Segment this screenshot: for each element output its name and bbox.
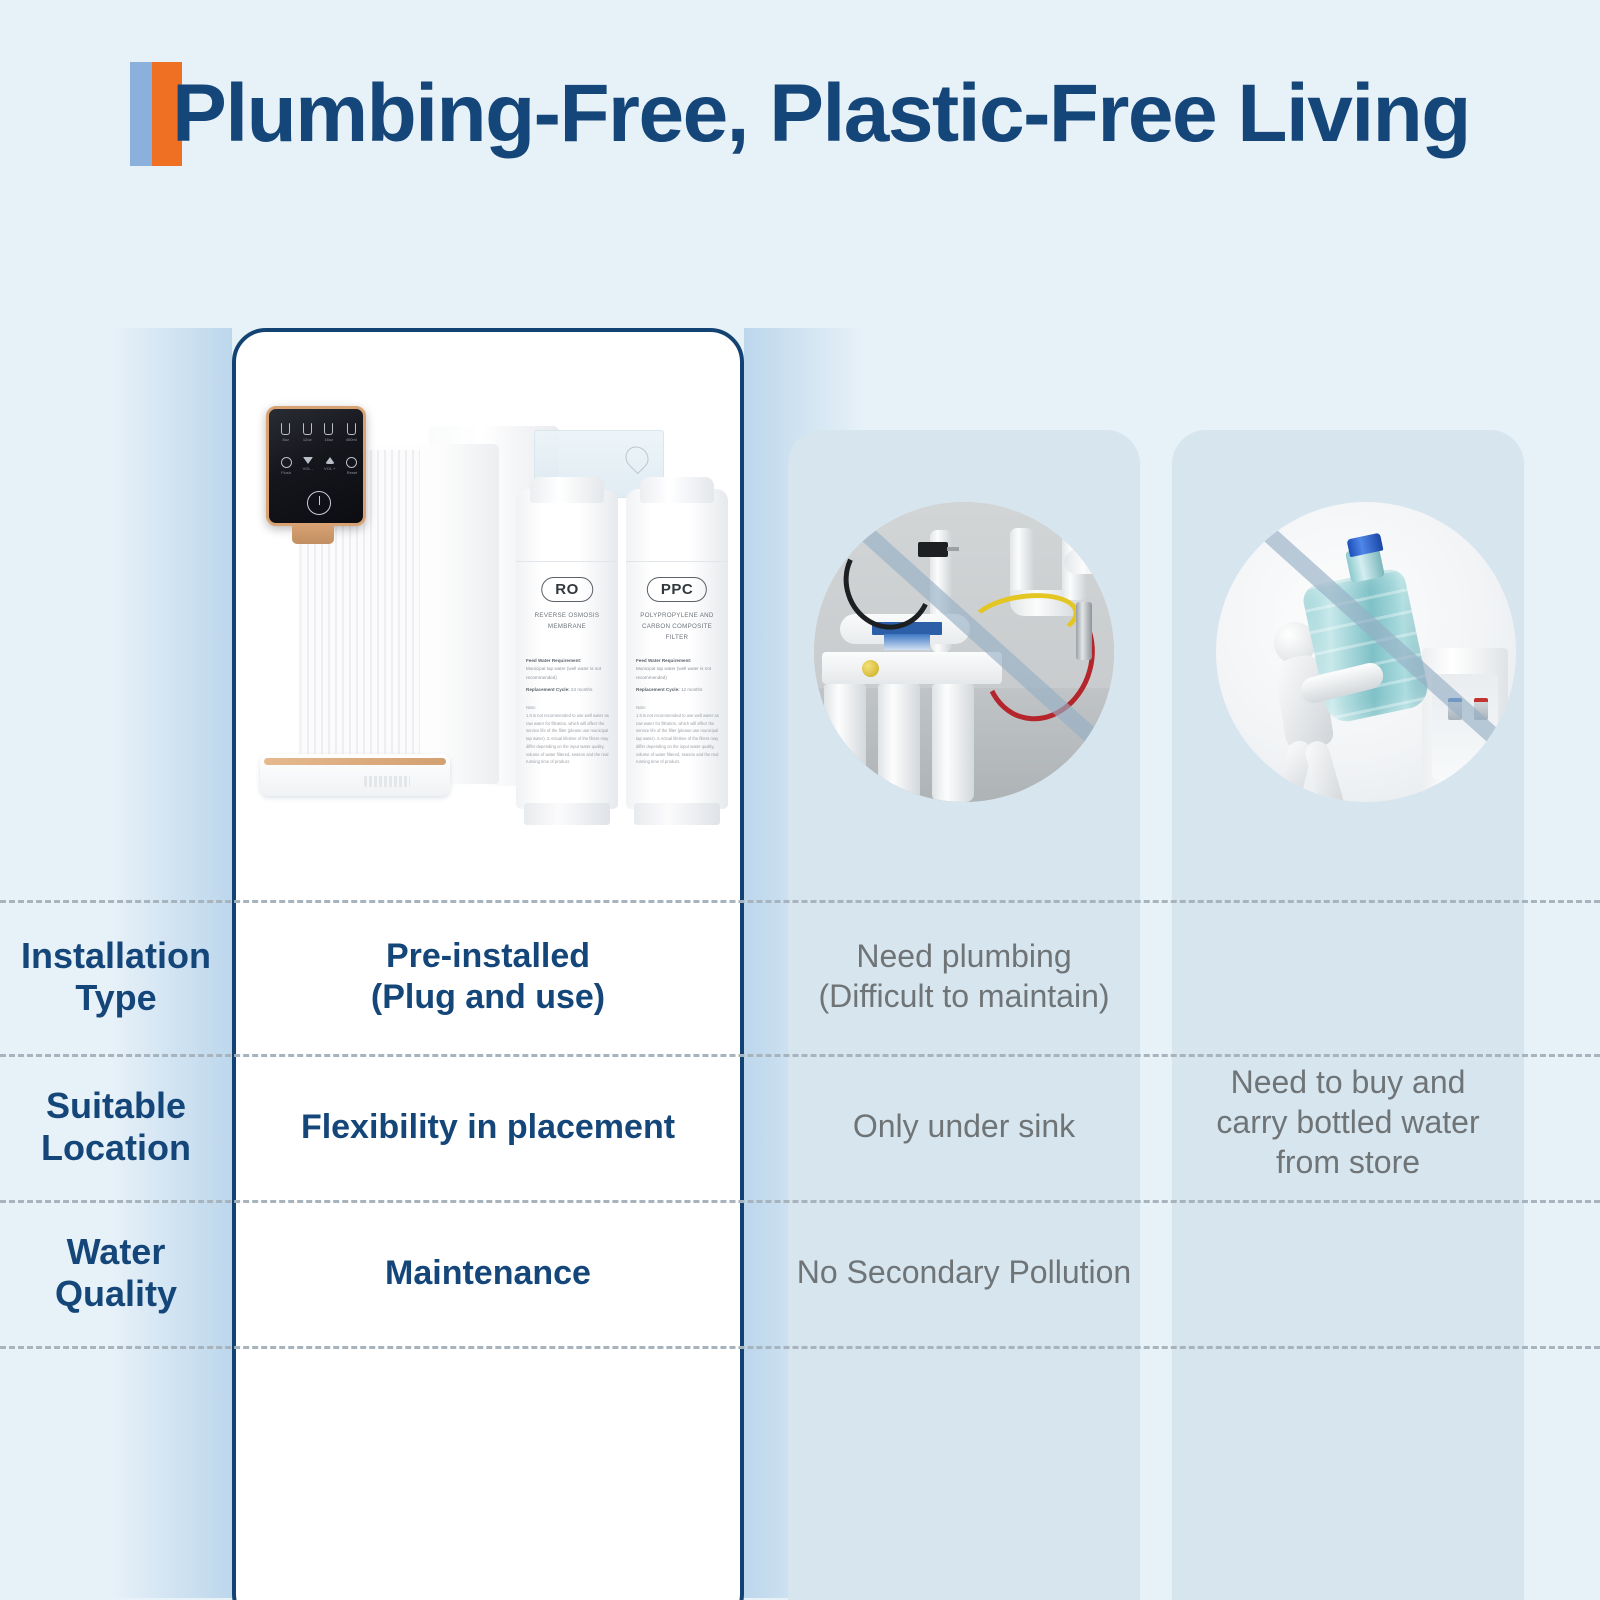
filter-base xyxy=(524,803,610,825)
filter-spec-ppc: Feed Water Requirement: Municipal tap wa… xyxy=(636,657,720,694)
filter-cartridge-ppc: PPC POLYPROPYLENE AND CARBON COMPOSITE F… xyxy=(626,489,728,809)
volume-down-button[interactable]: VOL - xyxy=(303,457,313,475)
flush-icon xyxy=(281,457,292,468)
volume-up-label: VOL + xyxy=(324,466,335,471)
small-cup-icon xyxy=(281,423,290,435)
power-plug-icon xyxy=(918,542,948,557)
row-label-line: Installation xyxy=(21,935,211,977)
row-label-line: Type xyxy=(21,977,211,1019)
drip-tray-grill xyxy=(364,776,410,787)
compare-value-line: Only under sink xyxy=(853,1107,1075,1147)
spec-label: Feed Water Requirement: xyxy=(526,658,581,663)
cup-size-button-450ml[interactable]: 450ml xyxy=(346,423,357,442)
filter-tag-ppc: PPC xyxy=(647,577,707,602)
featured-value-line: (Plug and use) xyxy=(371,977,605,1018)
certification-seal-icon xyxy=(862,660,879,677)
compare2-value-water-quality: No Secondary Pollution xyxy=(788,1200,1140,1346)
medium-cup-icon xyxy=(303,423,312,435)
filter-canister xyxy=(878,684,920,802)
filter-cap xyxy=(530,477,604,503)
cycle-label: Replacement Cycle: xyxy=(526,687,570,692)
filter-cartridge-ro: RO REVERSE OSMOSIS MEMBRANE Feed Water R… xyxy=(516,489,618,809)
compare2-value-suitable-location: Only under sink xyxy=(788,1054,1140,1200)
flush-label: Flush xyxy=(281,470,291,475)
featured-value-installation-type: Pre-installed (Plug and use) xyxy=(236,900,740,1054)
filter-subtitle-ro: REVERSE OSMOSIS MEMBRANE xyxy=(522,611,612,633)
filter-canister xyxy=(932,684,974,802)
reset-button[interactable]: Reset xyxy=(346,457,357,475)
compare-value-line: (Difficult to maintain) xyxy=(818,977,1109,1017)
cycle-value: 12 months xyxy=(681,687,702,692)
volume-up-icon xyxy=(325,457,335,464)
filter-spec-ro: Feed Water Requirement: Municipal tap wa… xyxy=(526,657,610,694)
comparison-cards-layer: 8oz 12oz 16oz 450ml Flush xyxy=(0,0,1600,1600)
compare-value-line: Need plumbing xyxy=(818,937,1109,977)
filter-tag-ro: RO xyxy=(541,577,593,602)
cup-size-label: 12oz xyxy=(303,437,312,442)
compare-value-line: Need to buy and xyxy=(1216,1063,1479,1103)
volume-down-icon xyxy=(303,457,313,464)
filter-base xyxy=(634,803,720,825)
note-title: Note: xyxy=(636,704,720,712)
row-label-line: Location xyxy=(41,1127,191,1169)
compare-value-line: from store xyxy=(1216,1143,1479,1183)
drip-tray-gold-trim xyxy=(264,758,446,765)
cup-size-label: 450ml xyxy=(346,437,357,442)
tall-glass-icon xyxy=(347,423,356,435)
volume-up-button[interactable]: VOL + xyxy=(324,457,335,475)
membrane-graphic xyxy=(884,634,930,650)
filter-seam xyxy=(516,561,618,562)
volume-down-label: VOL - xyxy=(303,466,313,471)
spec-label: Feed Water Requirement: xyxy=(636,658,691,663)
compare3-value-spanning: Need to buy and carry bottled water from… xyxy=(1172,900,1524,1346)
under-sink-plumbing-photo xyxy=(814,502,1114,802)
cycle-value: 24 months xyxy=(571,687,592,692)
table-divider xyxy=(0,1346,1600,1349)
row-label-suitable-location: Suitable Location xyxy=(0,1054,232,1200)
cup-size-label: 8oz xyxy=(283,437,289,442)
cup-size-label: 16oz xyxy=(324,437,333,442)
comparison-table: Installation Type Pre-installed (Plug an… xyxy=(0,900,1600,1360)
filter-canister xyxy=(824,684,866,802)
filter-note-ro: Note: 1.It is not recommended to use wel… xyxy=(526,704,610,766)
control-panel[interactable]: 8oz 12oz 16oz 450ml Flush xyxy=(266,406,366,526)
filter-cap xyxy=(640,477,714,503)
filter-subtitle-ppc: POLYPROPYLENE AND CARBON COMPOSITE FILTE… xyxy=(632,611,722,644)
row-label-water-quality: Water Quality xyxy=(0,1200,232,1346)
control-panel-neck xyxy=(292,524,334,544)
note-body: 1.It is not recommended to use well wate… xyxy=(526,712,610,766)
bottled-water-scene xyxy=(1216,502,1516,802)
featured-value-line: Maintenance xyxy=(385,1253,591,1294)
compare2-value-installation-type: Need plumbing (Difficult to maintain) xyxy=(788,900,1140,1054)
compare-value-line: No Secondary Pollution xyxy=(797,1253,1131,1293)
under-sink-scene xyxy=(814,502,1114,802)
filter-seam xyxy=(626,561,728,562)
reset-icon xyxy=(346,457,357,468)
featured-value-water-quality: Maintenance xyxy=(236,1200,740,1346)
featured-value-line: Pre-installed xyxy=(371,936,605,977)
featured-value-suitable-location: Flexibility in placement xyxy=(236,1054,740,1200)
flush-button[interactable]: Flush xyxy=(281,457,292,475)
note-body: 1.It is not recommended to use well wate… xyxy=(636,712,720,766)
compare-value-line: carry bottled water xyxy=(1216,1103,1479,1143)
filter-manifold xyxy=(822,652,1002,684)
large-cup-icon xyxy=(324,423,333,435)
control-panel-row-1: 8oz 12oz 16oz 450ml xyxy=(275,423,363,442)
cup-size-button-16oz[interactable]: 16oz xyxy=(324,423,333,442)
p-trap-top xyxy=(1064,550,1114,574)
cycle-label: Replacement Cycle: xyxy=(636,687,680,692)
power-icon[interactable] xyxy=(307,491,331,515)
filter-note-ppc: Note: 1.It is not recommended to use wel… xyxy=(636,704,720,766)
cup-size-button-12oz[interactable]: 12oz xyxy=(303,423,312,442)
row-label-line: Quality xyxy=(55,1273,177,1315)
control-panel-row-2: Flush VOL - VOL + Reset xyxy=(275,457,363,475)
product-illustration: 8oz 12oz 16oz 450ml Flush xyxy=(244,384,744,854)
bottled-water-photo xyxy=(1216,502,1516,802)
note-title: Note: xyxy=(526,704,610,712)
figure-leg xyxy=(1303,738,1350,802)
featured-value-line: Flexibility in placement xyxy=(301,1107,675,1148)
row-label-line: Suitable xyxy=(41,1085,191,1127)
row-label-installation-type: Installation Type xyxy=(0,900,232,1054)
cup-size-button-8oz[interactable]: 8oz xyxy=(281,423,290,442)
spec-value: Municipal tap water (well water is not r… xyxy=(636,665,720,682)
reset-label: Reset xyxy=(347,470,357,475)
spec-value: Municipal tap water (well water is not r… xyxy=(526,665,610,682)
shutoff-valve xyxy=(1076,602,1092,660)
row-label-line: Water xyxy=(55,1231,177,1273)
